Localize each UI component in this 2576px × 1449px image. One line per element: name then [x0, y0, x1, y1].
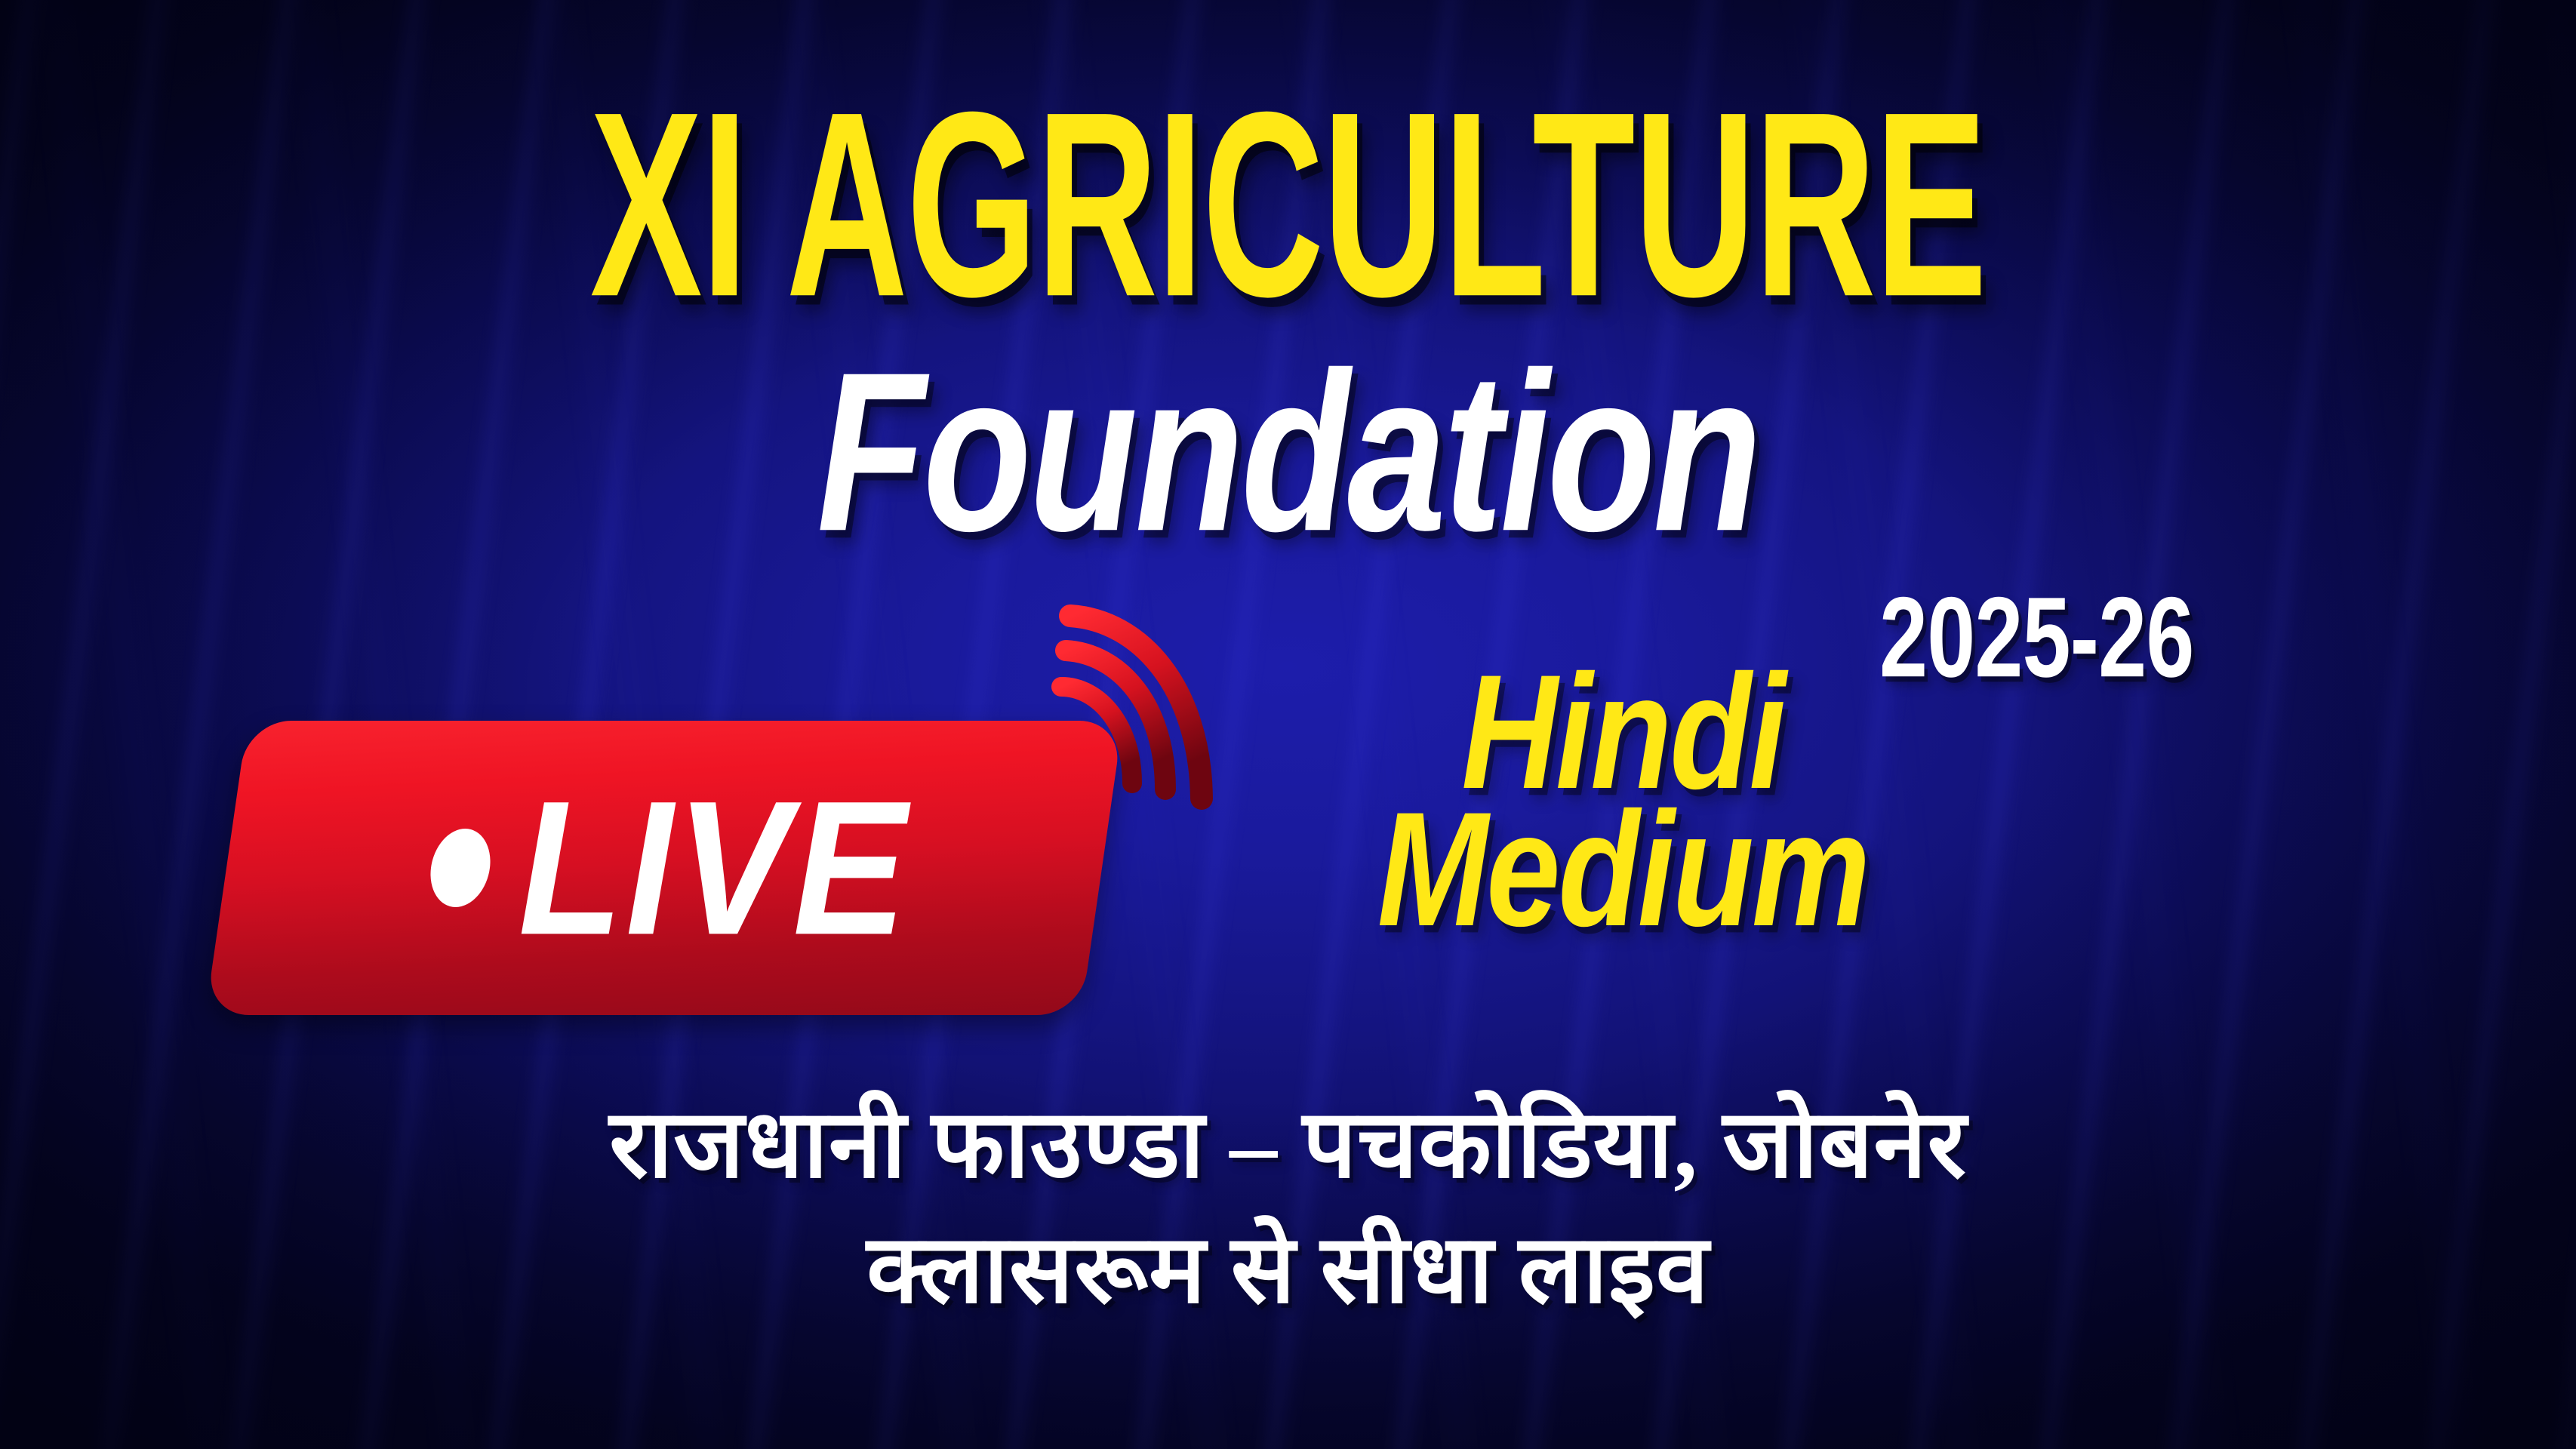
- medium-label-group: Hindi Medium: [1238, 664, 2008, 940]
- live-badge-label: LIVE: [519, 772, 909, 963]
- live-dot-icon: [426, 829, 494, 907]
- poster-canvas: XI AGRICULTURE Foundation 2025-26 LIVE H…: [0, 0, 2576, 1449]
- broadcast-waves-icon: [1017, 589, 1266, 838]
- medium-label-line-2: Medium: [1257, 791, 1989, 950]
- live-badge-content: LIVE: [226, 721, 1102, 1015]
- venue-caption: राजधानी फाउण्डा – पचकोडिया, जोबनेर क्लास…: [0, 1083, 2576, 1334]
- page-subtitle: Foundation: [155, 338, 2421, 565]
- page-title: XI AGRICULTURE: [283, 72, 2292, 336]
- live-badge[interactable]: LIVE: [226, 721, 1102, 1015]
- venue-caption-line-1: राजधानी फाउण्डा – पचकोडिया, जोबनेर: [0, 1083, 2576, 1208]
- venue-caption-line-2: क्लासरूम से सीधा लाइव: [0, 1208, 2576, 1334]
